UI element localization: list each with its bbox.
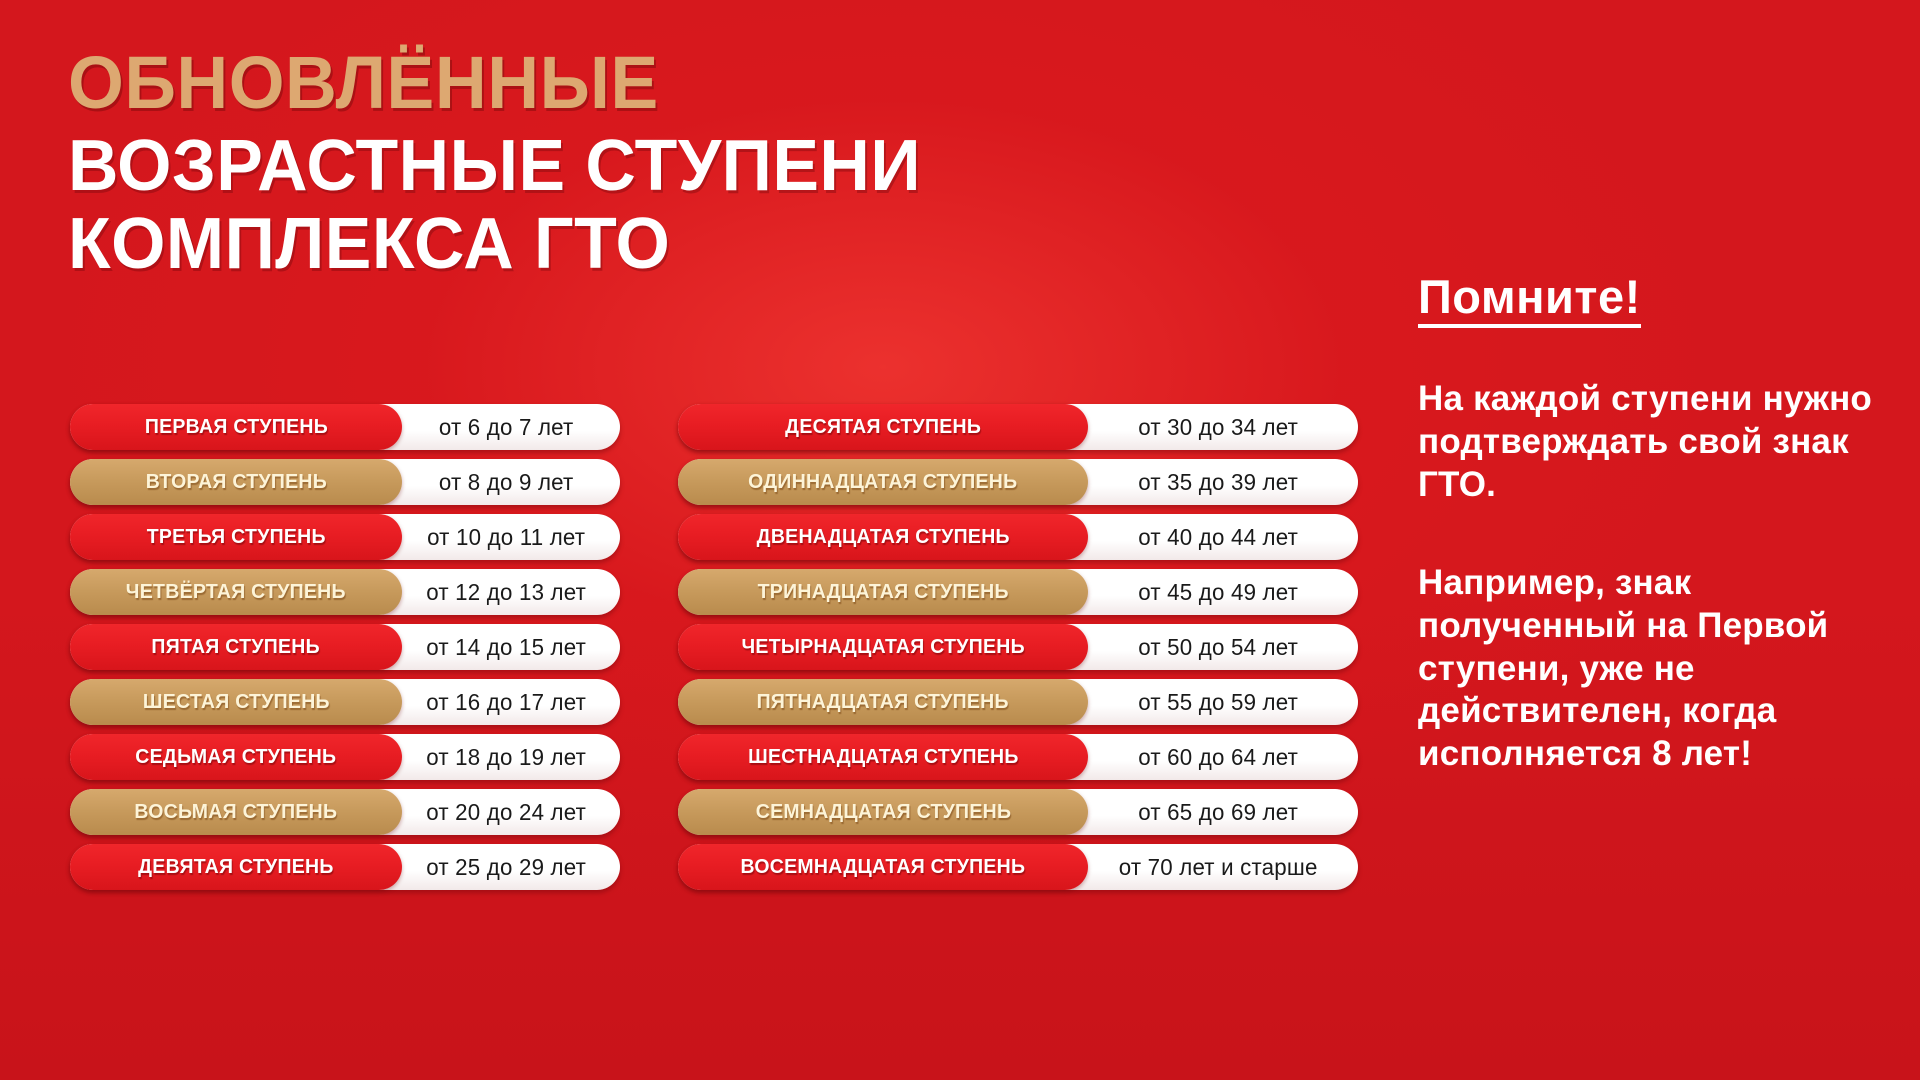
stage-row: СЕМНАДЦАТАЯ СТУПЕНЬот 65 до 69 лет [678, 789, 1358, 835]
note-paragraph-example: Например, знак полученный на Первой ступ… [1418, 562, 1888, 775]
stage-age-range: от 30 до 34 лет [1092, 414, 1354, 441]
stage-name-label: ТРЕТЬЯ СТУПЕНЬ [146, 525, 325, 549]
stage-name-pill: ШЕСТАЯ СТУПЕНЬ [70, 679, 402, 725]
stage-row: ТРИНАДЦАТАЯ СТУПЕНЬот 45 до 49 лет [678, 569, 1358, 615]
stage-name-label: ЧЕТЫРНАДЦАТАЯ СТУПЕНЬ [741, 635, 1024, 659]
stage-age-range: от 35 до 39 лет [1092, 469, 1354, 496]
infographic-page: ОБНОВЛЁННЫЕ ВОЗРАСТНЫЕ СТУПЕНИ КОМПЛЕКСА… [0, 0, 1920, 1080]
stage-name-pill: ПЯТНАДЦАТАЯ СТУПЕНЬ [678, 679, 1088, 725]
remember-note-panel: Помните! На каждой ступени нужно подтвер… [1418, 272, 1888, 776]
stage-name-pill: ТРИНАДЦАТАЯ СТУПЕНЬ [678, 569, 1088, 615]
stage-column-right: ДЕСЯТАЯ СТУПЕНЬот 30 до 34 летОДИННАДЦАТ… [678, 404, 1358, 890]
stage-row: ПЕРВАЯ СТУПЕНЬот 6 до 7 лет [70, 404, 620, 450]
stage-age-range: от 65 до 69 лет [1092, 799, 1354, 826]
stage-name-pill: ВОСЬМАЯ СТУПЕНЬ [70, 789, 402, 835]
stage-name-label: СЕМНАДЦАТАЯ СТУПЕНЬ [755, 800, 1011, 824]
title-line-age-stages: ВОЗРАСТНЫЕ СТУПЕНИ [68, 131, 1057, 202]
stage-row: ВТОРАЯ СТУПЕНЬот 8 до 9 лет [70, 459, 620, 505]
stage-age-range: от 60 до 64 лет [1092, 744, 1354, 771]
stage-name-pill: ДЕСЯТАЯ СТУПЕНЬ [678, 404, 1088, 450]
page-title: ОБНОВЛЁННЫЕ ВОЗРАСТНЫЕ СТУПЕНИ КОМПЛЕКСА… [68, 46, 1088, 280]
stage-row: ВОСЕМНАДЦАТАЯ СТУПЕНЬот 70 лет и старше [678, 844, 1358, 890]
stage-age-range: от 50 до 54 лет [1092, 634, 1354, 661]
stage-age-range: от 45 до 49 лет [1092, 579, 1354, 606]
stage-name-pill: ВОСЕМНАДЦАТАЯ СТУПЕНЬ [678, 844, 1088, 890]
stage-age-range: от 10 до 11 лет [405, 524, 616, 551]
stage-row: ПЯТНАДЦАТАЯ СТУПЕНЬот 55 до 59 лет [678, 679, 1358, 725]
stage-name-label: ЧЕТВЁРТАЯ СТУПЕНЬ [126, 580, 346, 604]
stage-name-label: СЕДЬМАЯ СТУПЕНЬ [135, 745, 336, 769]
stage-age-range: от 14 до 15 лет [405, 634, 616, 661]
stage-age-range: от 70 лет и старше [1092, 854, 1354, 881]
stage-row: ВОСЬМАЯ СТУПЕНЬот 20 до 24 лет [70, 789, 620, 835]
stage-row: ДЕСЯТАЯ СТУПЕНЬот 30 до 34 лет [678, 404, 1358, 450]
stage-row: ОДИННАДЦАТАЯ СТУПЕНЬот 35 до 39 лет [678, 459, 1358, 505]
stage-age-range: от 20 до 24 лет [405, 799, 616, 826]
stage-age-range: от 6 до 7 лет [405, 414, 616, 441]
stage-name-pill: ТРЕТЬЯ СТУПЕНЬ [70, 514, 402, 560]
stage-column-left: ПЕРВАЯ СТУПЕНЬот 6 до 7 летВТОРАЯ СТУПЕН… [70, 404, 620, 890]
stage-name-label: ДЕСЯТАЯ СТУПЕНЬ [785, 415, 981, 439]
stage-row: ПЯТАЯ СТУПЕНЬот 14 до 15 лет [70, 624, 620, 670]
stage-name-label: ТРИНАДЦАТАЯ СТУПЕНЬ [757, 580, 1008, 604]
stage-name-label: ПЕРВАЯ СТУПЕНЬ [144, 415, 327, 439]
stage-name-pill: ПЕРВАЯ СТУПЕНЬ [70, 404, 402, 450]
title-line-updated: ОБНОВЛЁННЫЕ [68, 46, 1057, 119]
stage-name-pill: ДЕВЯТАЯ СТУПЕНЬ [70, 844, 402, 890]
stage-name-label: ВОСЬМАЯ СТУПЕНЬ [135, 800, 338, 824]
stage-age-range: от 18 до 19 лет [405, 744, 616, 771]
stage-row: ДЕВЯТАЯ СТУПЕНЬот 25 до 29 лет [70, 844, 620, 890]
stage-row: ЧЕТЫРНАДЦАТАЯ СТУПЕНЬот 50 до 54 лет [678, 624, 1358, 670]
stage-name-label: ОДИННАДЦАТАЯ СТУПЕНЬ [748, 470, 1017, 494]
stage-name-pill: ВТОРАЯ СТУПЕНЬ [70, 459, 402, 505]
stage-name-pill: СЕМНАДЦАТАЯ СТУПЕНЬ [678, 789, 1088, 835]
stage-name-pill: ЧЕТВЁРТАЯ СТУПЕНЬ [70, 569, 402, 615]
stage-name-label: ПЯТАЯ СТУПЕНЬ [152, 635, 320, 659]
stage-row: ТРЕТЬЯ СТУПЕНЬот 10 до 11 лет [70, 514, 620, 560]
stage-row: СЕДЬМАЯ СТУПЕНЬот 18 до 19 лет [70, 734, 620, 780]
stage-name-label: ДЕВЯТАЯ СТУПЕНЬ [138, 855, 334, 879]
title-line-gto-complex: КОМПЛЕКСА ГТО [68, 209, 1057, 280]
stage-age-range: от 55 до 59 лет [1092, 689, 1354, 716]
stage-age-range: от 25 до 29 лет [405, 854, 616, 881]
stage-name-pill: ДВЕНАДЦАТАЯ СТУПЕНЬ [678, 514, 1088, 560]
stage-row: ЧЕТВЁРТАЯ СТУПЕНЬот 12 до 13 лет [70, 569, 620, 615]
stage-age-range: от 12 до 13 лет [405, 579, 616, 606]
stage-name-pill: ПЯТАЯ СТУПЕНЬ [70, 624, 402, 670]
stage-name-pill: ОДИННАДЦАТАЯ СТУПЕНЬ [678, 459, 1088, 505]
stage-name-pill: ЧЕТЫРНАДЦАТАЯ СТУПЕНЬ [678, 624, 1088, 670]
note-heading: Помните! [1418, 272, 1641, 328]
stage-row: ШЕСТНАДЦАТАЯ СТУПЕНЬот 60 до 64 лет [678, 734, 1358, 780]
stage-name-label: ШЕСТНАДЦАТАЯ СТУПЕНЬ [748, 745, 1019, 769]
stage-name-label: ПЯТНАДЦАТАЯ СТУПЕНЬ [757, 690, 1009, 714]
stage-row: ДВЕНАДЦАТАЯ СТУПЕНЬот 40 до 44 лет [678, 514, 1358, 560]
stage-name-label: ВОСЕМНАДЦАТАЯ СТУПЕНЬ [741, 855, 1026, 879]
stage-name-label: ШЕСТАЯ СТУПЕНЬ [143, 690, 330, 714]
stage-age-range: от 8 до 9 лет [405, 469, 616, 496]
stage-name-pill: СЕДЬМАЯ СТУПЕНЬ [70, 734, 402, 780]
note-paragraph-confirm: На каждой ступени нужно подтверждать сво… [1418, 378, 1888, 506]
stage-name-pill: ШЕСТНАДЦАТАЯ СТУПЕНЬ [678, 734, 1088, 780]
stage-row: ШЕСТАЯ СТУПЕНЬот 16 до 17 лет [70, 679, 620, 725]
stage-age-range: от 40 до 44 лет [1092, 524, 1354, 551]
stage-age-range: от 16 до 17 лет [405, 689, 616, 716]
stage-name-label: ДВЕНАДЦАТАЯ СТУПЕНЬ [756, 525, 1009, 549]
stage-name-label: ВТОРАЯ СТУПЕНЬ [145, 470, 326, 494]
